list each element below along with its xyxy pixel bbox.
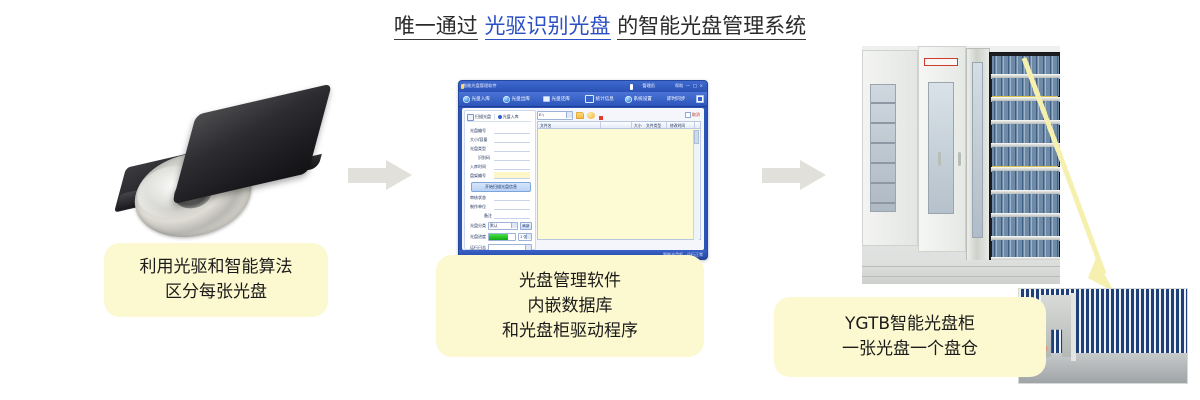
field-label: 光盘分类 xyxy=(470,223,486,229)
disc-out-icon xyxy=(503,96,510,103)
field-producer[interactable]: 制作单位 xyxy=(470,203,530,210)
refresh-button[interactable]: 刷新 xyxy=(520,222,532,231)
disc-category-row[interactable]: 光盘分类 默认 刷新 xyxy=(470,222,532,230)
tab-label: 扫描光盘 xyxy=(475,114,491,120)
left-shelf xyxy=(871,162,895,164)
arrow-head xyxy=(386,160,412,190)
slide-canvas: 唯一通过 光驱识别光盘 的智能光盘管理系统 智能光盘管理软件 管理员 帮助 — … xyxy=(0,0,1200,400)
window-content: 扫描光盘 光盘入库 光盘编号 大小/容量 光盘类型 识别码 xyxy=(462,108,704,250)
left-shelf xyxy=(871,202,895,204)
field-disc-type[interactable]: 光盘类型 xyxy=(470,145,530,152)
toolbar-label: 光盘出库 xyxy=(512,96,530,102)
window-title: 智能光盘管理软件 xyxy=(463,83,497,89)
field-input[interactable] xyxy=(494,154,530,161)
field-label: 光盘编号 xyxy=(470,128,486,134)
window-controls[interactable]: 帮助 — □ × xyxy=(675,83,703,89)
disc-count-stepper[interactable]: 1 张 xyxy=(518,233,532,242)
gear-icon xyxy=(625,96,632,103)
path-value: E:\ xyxy=(539,112,544,117)
cabinet-label xyxy=(924,58,958,66)
left-shelf xyxy=(871,142,895,144)
scan-icon xyxy=(467,114,474,121)
field-input[interactable] xyxy=(494,136,530,143)
arrow-shaft xyxy=(348,168,388,183)
stats-icon xyxy=(585,95,594,103)
disc-progress-row: 光盘进度 1 张 xyxy=(470,233,532,241)
disc-in-icon xyxy=(498,115,502,119)
field-label: 制作单位 xyxy=(470,204,486,210)
stop-icon[interactable] xyxy=(599,116,603,120)
middle-cabinet-glass xyxy=(928,82,954,214)
callout-right: YGTB智能光盘柜 一张光盘一个盘仓 xyxy=(774,297,1046,377)
field-label: 备注 xyxy=(484,213,492,219)
toolbar-label: 系统设置 xyxy=(634,96,652,102)
field-input[interactable] xyxy=(494,127,530,134)
folder-icon[interactable] xyxy=(576,112,584,119)
file-list-body[interactable] xyxy=(537,128,701,240)
field-label: 入库时间 xyxy=(470,164,486,170)
field-label: 大小/容量 xyxy=(470,137,487,143)
toolbar-item-settings[interactable]: 系统设置 xyxy=(625,94,652,104)
toolbar-item-disc-return[interactable]: 光盘还库 xyxy=(543,94,570,104)
chevron-down-icon xyxy=(511,223,517,228)
right-panel: E:\ 取消 文件名 大小 文件类型 xyxy=(537,110,701,248)
path-toolbar[interactable]: E:\ xyxy=(537,110,701,120)
left-shelf xyxy=(871,102,895,104)
toolbar-item-stats[interactable]: 统计信息 xyxy=(585,94,614,104)
callout-arrow-icon xyxy=(1018,52,1128,302)
vertical-scrollbar[interactable] xyxy=(693,130,699,240)
toolbar-label: 统计信息 xyxy=(596,96,614,102)
tab-scan-disc[interactable]: 扫描光盘 xyxy=(467,114,491,121)
toolbar-item-disc-in[interactable]: 光盘入库 xyxy=(463,94,490,104)
disc-return-icon xyxy=(543,96,550,102)
toolbar-item-disc-out[interactable]: 光盘出库 xyxy=(503,94,530,104)
left-panel-tabs[interactable]: 扫描光盘 光盘入库 xyxy=(467,113,531,122)
field-audit-status[interactable]: 审核状态 xyxy=(470,194,530,201)
flow-arrow-1-icon xyxy=(348,160,412,190)
field-label: 光盘进度 xyxy=(470,234,486,240)
user-icon xyxy=(630,84,634,90)
open-door-glass xyxy=(972,62,983,238)
arrow-shaft xyxy=(762,168,802,183)
file-list-header: 文件名 大小 文件类型 修改时间 xyxy=(537,121,701,128)
field-label: 光盘类型 xyxy=(470,146,486,152)
path-select[interactable]: E:\ xyxy=(537,111,573,120)
field-identifier[interactable]: 识别码 xyxy=(470,154,530,161)
toolbar-item-sync[interactable]: 即时同步 xyxy=(667,94,685,104)
tab-label: 光盘入库 xyxy=(503,114,519,120)
left-panel: 扫描光盘 光盘入库 光盘编号 大小/容量 光盘类型 识别码 xyxy=(464,110,536,250)
sync-icon[interactable] xyxy=(696,95,704,103)
page-title: 唯一通过 光驱识别光盘 的智能光盘管理系统 xyxy=(0,12,1200,40)
field-label: 盘架编号 xyxy=(470,173,486,179)
gripper-rail xyxy=(1071,293,1076,361)
disc-category-select[interactable]: 默认 xyxy=(488,222,518,231)
cabinet-handle[interactable] xyxy=(938,152,941,166)
cancel-link[interactable]: 取消 xyxy=(692,112,700,118)
start-scan-button[interactable]: 开始扫描光盘信息 xyxy=(471,182,531,192)
drive-body-top xyxy=(172,84,332,205)
title-highlight: 光驱识别光盘 xyxy=(485,14,611,40)
checkbox-box[interactable] xyxy=(685,112,691,118)
progress-fill xyxy=(489,234,508,240)
window-titlebar: 智能光盘管理软件 管理员 帮助 — □ × xyxy=(459,81,707,92)
select-value: 默认 xyxy=(490,223,498,229)
field-input[interactable] xyxy=(494,212,530,219)
left-shelf xyxy=(871,182,895,184)
field-rack-id[interactable]: 盘架编号 xyxy=(470,172,530,179)
disc-management-software-window[interactable]: 智能光盘管理软件 管理员 帮助 — □ × 光盘入库 光盘出库 光盘还库 统计信… xyxy=(458,80,708,260)
flow-arrow-2-icon xyxy=(762,160,826,190)
field-input-highlighted[interactable] xyxy=(494,172,530,179)
field-in-time[interactable]: 入库时间 xyxy=(470,163,530,170)
title-prefix: 唯一通过 xyxy=(394,14,478,40)
title-suffix: 的智能光盘管理系统 xyxy=(617,14,806,40)
field-input[interactable] xyxy=(494,203,530,210)
arrow-head xyxy=(800,160,826,190)
toolbar-label: 光盘入库 xyxy=(472,96,490,102)
cabinet-handle[interactable] xyxy=(958,152,961,166)
tab-separator xyxy=(494,114,495,120)
main-toolbar[interactable]: 光盘入库 光盘出库 光盘还库 统计信息 系统设置 即时同步 xyxy=(459,92,707,107)
field-remark[interactable]: 备注 xyxy=(470,212,530,219)
field-input[interactable] xyxy=(494,145,530,152)
titlebar-user-label: 管理员 xyxy=(642,83,655,89)
disc-in-icon xyxy=(463,96,470,103)
chevron-down-icon xyxy=(566,112,572,118)
field-label: 识别码 xyxy=(478,155,490,161)
field-input[interactable] xyxy=(494,194,530,201)
toolbar-label: 即时同步 xyxy=(667,96,685,102)
field-label: 审核状态 xyxy=(470,195,486,201)
field-disc-id[interactable]: 光盘编号 xyxy=(470,127,530,134)
left-shelf xyxy=(871,122,895,124)
callout-center: 光盘管理软件 内嵌数据库 和光盘柜驱动程序 xyxy=(436,255,704,357)
field-input[interactable] xyxy=(494,163,530,170)
external-dvd-drive-photo xyxy=(112,96,337,236)
toolbar-label: 光盘还库 xyxy=(552,96,570,102)
refresh-icon[interactable] xyxy=(587,112,595,119)
scrollbar-thumb[interactable] xyxy=(694,130,699,144)
callout-left: 利用光驱和智能算法 区分每张光盘 xyxy=(104,243,328,317)
tab-disc-in[interactable]: 光盘入库 xyxy=(498,114,519,120)
readonly-toggle[interactable]: 取消 xyxy=(685,112,701,118)
progress-bar xyxy=(488,233,516,241)
field-size[interactable]: 大小/容量 xyxy=(470,136,530,143)
